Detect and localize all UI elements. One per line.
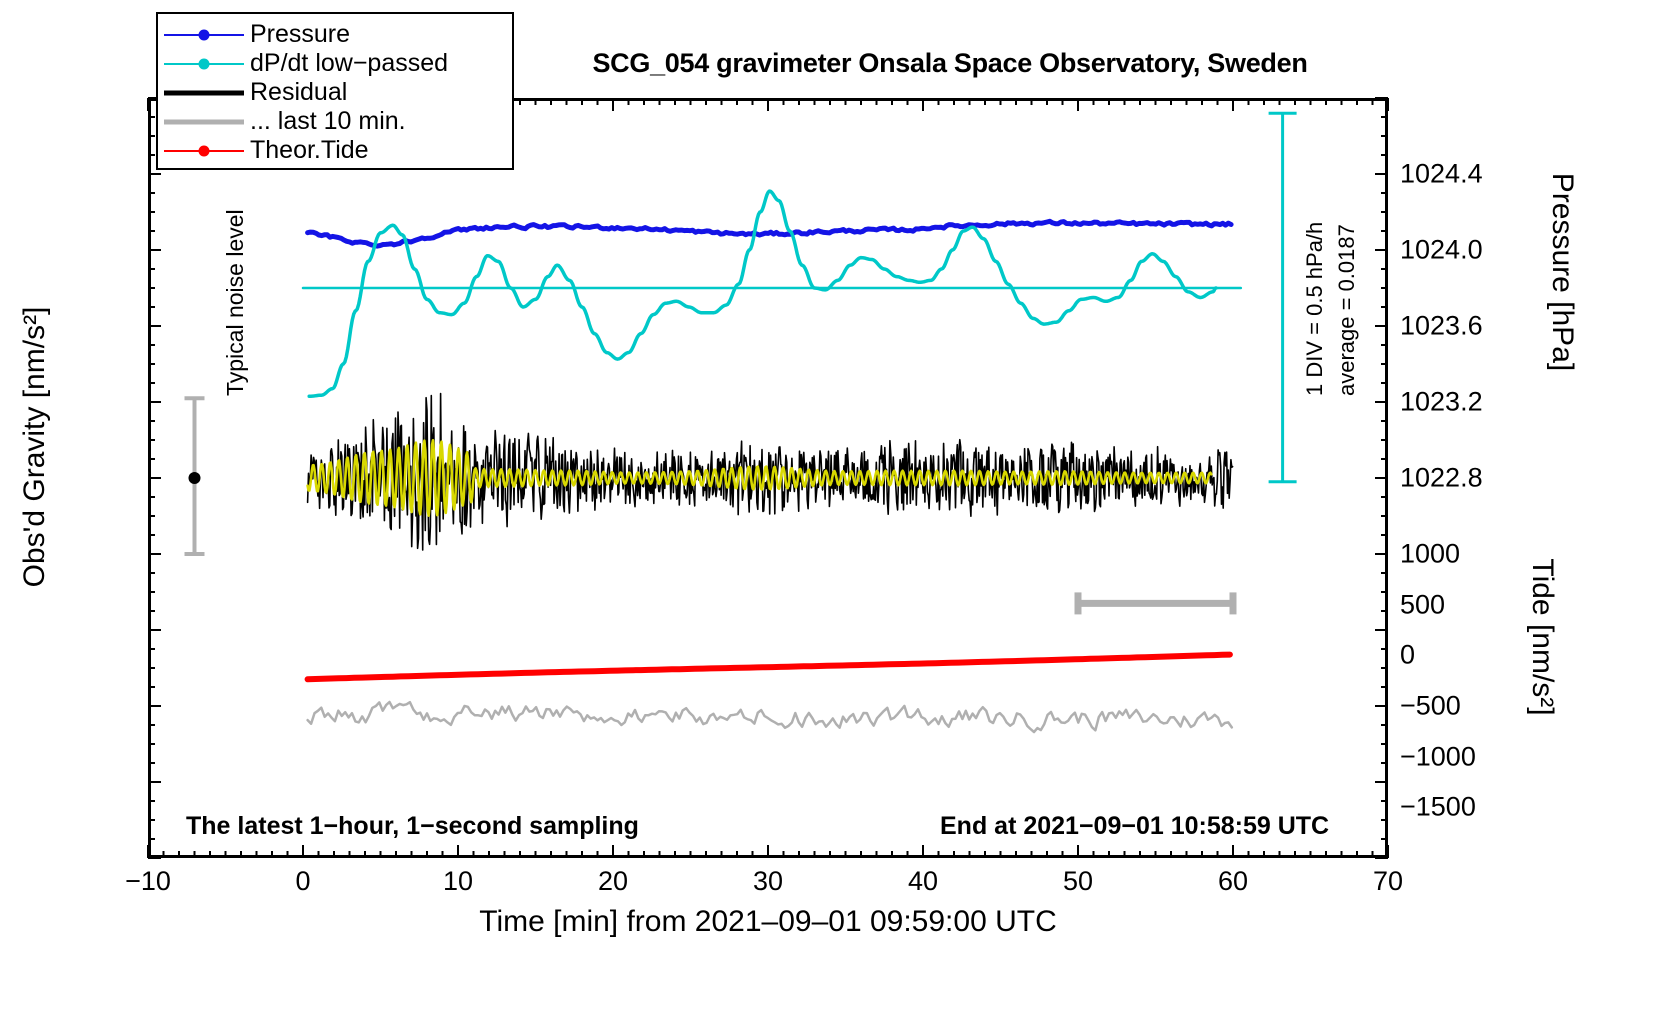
legend-label: ... last 10 min. bbox=[250, 107, 406, 136]
legend: PressuredP/dt low−passedResidual... last… bbox=[156, 12, 514, 170]
x-tick-label: 30 bbox=[753, 866, 783, 897]
legend-swatch-icon bbox=[158, 20, 250, 49]
x-tick-label: −10 bbox=[125, 866, 171, 897]
legend-label: Residual bbox=[250, 78, 347, 107]
plot-area bbox=[148, 98, 1388, 858]
dpdt-scale-note: 1 DIV = 0.5 hPa/h bbox=[1302, 222, 1328, 396]
x-tick-label: 20 bbox=[598, 866, 628, 897]
y-axis-title-gravity: Obs'd Gravity [nm/s²] bbox=[18, 227, 52, 667]
typical-noise-level-label: Typical noise level bbox=[222, 209, 249, 396]
legend-item: dP/dt low−passed bbox=[158, 49, 512, 78]
legend-swatch-icon bbox=[158, 107, 250, 136]
x-tick-label: 60 bbox=[1218, 866, 1248, 897]
legend-label: Pressure bbox=[250, 20, 350, 49]
tide-tick-label: −1000 bbox=[1400, 741, 1476, 772]
footer-note-left: The latest 1−hour, 1−second sampling bbox=[186, 812, 639, 841]
x-tick-label: 40 bbox=[908, 866, 938, 897]
tide-tick-label: 1000 bbox=[1400, 539, 1460, 570]
footer-note-right: End at 2021−09−01 10:58:59 UTC bbox=[940, 812, 1329, 841]
x-tick-label: 70 bbox=[1373, 866, 1403, 897]
x-axis-title: Time [min] from 2021–09–01 09:59:00 UTC bbox=[148, 905, 1388, 939]
legend-swatch-icon bbox=[158, 78, 250, 107]
chart-page: SCG_054 gravimeter Onsala Space Observat… bbox=[0, 0, 1660, 1020]
x-tick-label: 10 bbox=[443, 866, 473, 897]
legend-label: Theor.Tide bbox=[250, 136, 369, 165]
x-tick-label: 0 bbox=[295, 866, 310, 897]
y-axis-title-tide: Tide [nm/s²] bbox=[1525, 487, 1559, 787]
legend-item: Pressure bbox=[158, 20, 512, 49]
legend-item: Residual bbox=[158, 78, 512, 107]
tide-tick-label: −500 bbox=[1400, 691, 1461, 722]
legend-swatch-icon bbox=[158, 49, 250, 78]
y-axis-title-pressure: Pressure [hPa] bbox=[1545, 102, 1579, 442]
legend-item: ... last 10 min. bbox=[158, 107, 512, 136]
pressure-tick-label: 1024.0 bbox=[1400, 235, 1483, 266]
tide-tick-label: 500 bbox=[1400, 589, 1445, 620]
pressure-tick-label: 1023.2 bbox=[1400, 387, 1483, 418]
legend-label: dP/dt low−passed bbox=[250, 49, 448, 78]
tide-tick-label: 0 bbox=[1400, 640, 1415, 671]
dpdt-average-note: average = 0.0187 bbox=[1334, 224, 1360, 396]
x-tick-label: 50 bbox=[1063, 866, 1093, 897]
legend-swatch-icon bbox=[158, 136, 250, 165]
pressure-tick-label: 1023.6 bbox=[1400, 311, 1483, 342]
pressure-tick-label: 1024.4 bbox=[1400, 159, 1483, 190]
pressure-tick-label: 1022.8 bbox=[1400, 463, 1483, 494]
chart-title: SCG_054 gravimeter Onsala Space Observat… bbox=[450, 48, 1450, 79]
tide-tick-label: −1500 bbox=[1400, 792, 1476, 823]
legend-item: Theor.Tide bbox=[158, 136, 512, 165]
